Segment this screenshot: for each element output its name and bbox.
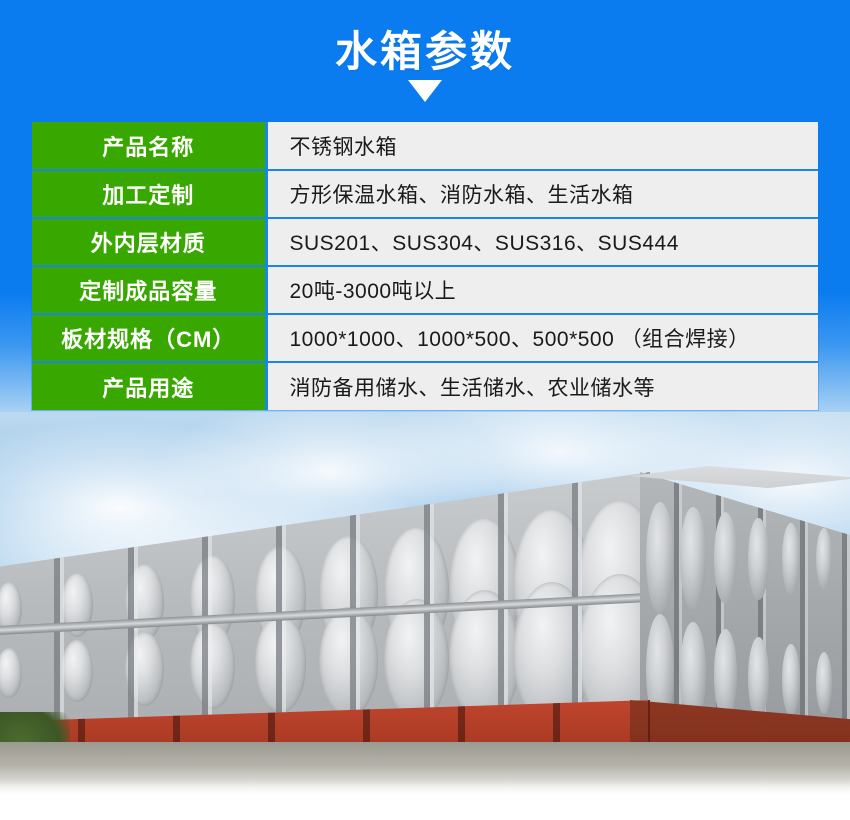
tank-panel-oval — [816, 528, 832, 590]
spec-label-cell: 加工定制 — [32, 170, 266, 218]
product-photo — [0, 412, 850, 800]
spec-value-cell: 20吨-3000吨以上 — [266, 266, 818, 314]
table-row: 外内层材质 SUS201、SUS304、SUS316、SUS444 — [32, 218, 818, 266]
tank-panel-oval — [782, 523, 800, 595]
banner-section: 水箱参数 产品名称 不锈钢水箱 加工定制 方形保温水箱、消防水箱、生活水箱 外内… — [0, 0, 850, 430]
table-row: 加工定制 方形保温水箱、消防水箱、生活水箱 — [32, 170, 818, 218]
spec-label-cell: 板材规格（CM） — [32, 314, 266, 362]
tank-panel-oval — [646, 502, 674, 614]
spec-label-cell: 外内层材质 — [32, 218, 266, 266]
spec-table: 产品名称 不锈钢水箱 加工定制 方形保温水箱、消防水箱、生活水箱 外内层材质 S… — [32, 122, 818, 410]
table-row: 定制成品容量 20吨-3000吨以上 — [32, 266, 818, 314]
spec-value-cell: 方形保温水箱、消防水箱、生活水箱 — [266, 170, 818, 218]
spec-label-cell: 产品名称 — [32, 122, 266, 170]
table-row: 板材规格（CM） 1000*1000、1000*500、500*500 （组合焊… — [32, 314, 818, 362]
spec-value-cell: 消防备用储水、生活储水、农业储水等 — [266, 362, 818, 410]
tank-panel-oval — [680, 507, 706, 609]
page-title: 水箱参数 — [0, 28, 850, 76]
spec-label-cell: 定制成品容量 — [32, 266, 266, 314]
table-row: 产品用途 消防备用储水、生活储水、农业储水等 — [32, 362, 818, 410]
product-spec-page: 水箱参数 产品名称 不锈钢水箱 加工定制 方形保温水箱、消防水箱、生活水箱 外内… — [0, 0, 850, 820]
triangle-down-icon — [408, 80, 442, 102]
spec-value-cell: SUS201、SUS304、SUS316、SUS444 — [266, 218, 818, 266]
spec-label-cell: 产品用途 — [32, 362, 266, 410]
photo-fade — [0, 780, 850, 800]
spec-value-cell: 1000*1000、1000*500、500*500 （组合焊接） — [266, 314, 818, 362]
spec-value-cell: 不锈钢水箱 — [266, 122, 818, 170]
table-row: 产品名称 不锈钢水箱 — [32, 122, 818, 170]
tank-panel-oval — [748, 518, 769, 600]
tank-panel-oval — [714, 512, 737, 604]
